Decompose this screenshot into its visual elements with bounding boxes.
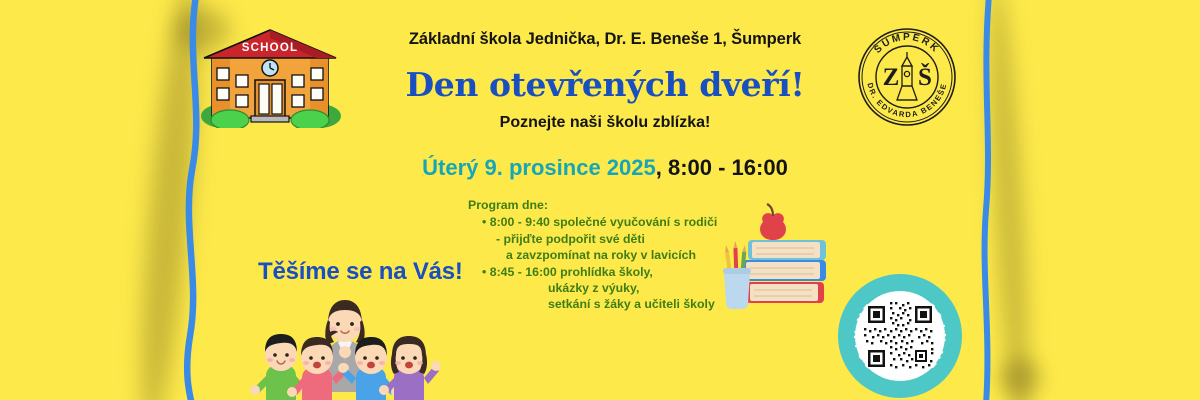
school-sign-label: SCHOOL [242, 42, 298, 54]
page-subtitle: Poznejte naši školu zblízka! [340, 114, 870, 132]
program-line-5: ukázky z výuky, [468, 280, 717, 296]
school-building-illustration: SCHOOL [196, 24, 344, 128]
apple-icon [760, 213, 786, 240]
event-date-text: Úterý 9. prosince 2025 [422, 155, 656, 180]
shadow-blob-right [1000, 358, 1040, 398]
shadow-stroke-right [982, 0, 1036, 400]
event-date-line: Úterý 9. prosince 2025, 8:00 - 16:00 [340, 155, 870, 181]
teacher-and-children-illustration [250, 296, 440, 400]
program-line-3: a zavzpomínat na roky v lavicích [468, 247, 717, 263]
program-heading: Program dne: [468, 197, 717, 213]
welcome-message: Těšíme se na Vás! [258, 258, 463, 286]
poster-canvas: SCHOOL ŠU [0, 0, 1200, 400]
program-list: Program dne: 8:00 - 9:40 společné vyučov… [468, 197, 717, 313]
child-figure-purple [379, 336, 440, 400]
pencil-jar-icon [724, 272, 750, 309]
page-title: Den otevřených dveří! [340, 65, 870, 104]
school-name-line: Základní škola Jednička, Dr. E. Beneše 1… [340, 30, 870, 49]
program-line-1: 8:00 - 9:40 společné vyučování s rodiči [468, 214, 717, 230]
qr-code-badge[interactable]: SCAN ME SCAN ME SCAN ME SCAN ME [836, 272, 964, 400]
seal-letter-z: Z [883, 64, 900, 91]
books-apple-illustration [716, 192, 832, 312]
program-line-4: 8:45 - 16:00 prohlídka školy, [468, 264, 717, 280]
program-line-2: - přijďte podpořit své děti [468, 231, 717, 247]
school-seal-logo: ŠUMPERK DR. EDVARDA BENEŠE Z Š [856, 26, 958, 128]
program-line-6: setkání s žáky a učiteli školy [468, 296, 717, 312]
child-figure-green [250, 334, 310, 400]
event-time-text: , 8:00 - 16:00 [656, 155, 788, 180]
headline-text-block: Základní škola Jednička, Dr. E. Beneše 1… [340, 30, 870, 181]
seal-letter-s: Š [918, 63, 932, 91]
